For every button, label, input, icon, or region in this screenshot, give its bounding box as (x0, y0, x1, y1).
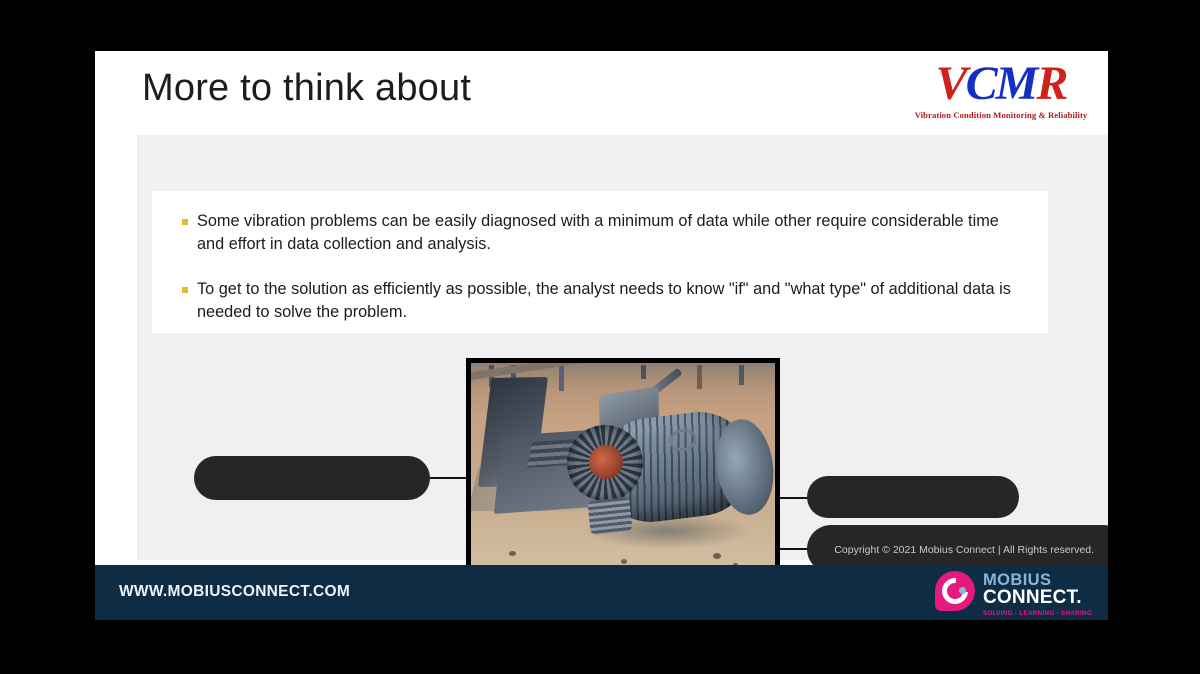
motor-photo-content (471, 363, 775, 591)
background-object (739, 365, 744, 385)
motor-foot (587, 497, 632, 535)
vcmr-letter-m: M (996, 57, 1037, 110)
bullet-marker-icon (182, 287, 188, 293)
slide-body-panel: Some vibration problems can be easily di… (137, 135, 1108, 560)
letterbox-stage: More to think about VCMR Vibration Condi… (0, 0, 1200, 674)
bullet-item: Some vibration problems can be easily di… (182, 210, 1022, 255)
callout-connector-right-2 (778, 548, 808, 550)
mobius-word-bottom: CONNECT. (983, 588, 1103, 608)
callout-left-redacted (194, 456, 430, 500)
mobius-tagline: SOLVING · LEARNING · SHARING (983, 610, 1103, 617)
bullet-item: To get to the solution as efficiently as… (182, 278, 1022, 323)
mobius-wordmark: MOBIUS CONNECT. SOLVING · LEARNING · SHA… (983, 572, 1103, 617)
vcmr-letter-r: R (1036, 57, 1066, 110)
page-title: More to think about (142, 67, 471, 110)
callout-right-1-redacted (807, 476, 1019, 518)
debris (509, 551, 516, 556)
motor-photo (466, 358, 780, 596)
presentation-slide: More to think about VCMR Vibration Condi… (95, 51, 1108, 620)
copyright-text: Copyright © 2021 Mobius Connect | All Ri… (834, 544, 1094, 556)
slide-header: More to think about VCMR Vibration Condi… (95, 51, 1108, 135)
dot-shape (959, 587, 966, 594)
vcmr-tagline: Vibration Condition Monitoring & Reliabi… (905, 110, 1097, 120)
bullet-marker-icon (182, 219, 188, 225)
mobius-connect-logo: MOBIUS CONNECT. SOLVING · LEARNING · SHA… (931, 565, 1106, 620)
mobius-word-top: MOBIUS (983, 572, 1103, 588)
mobius-bubble-icon (935, 571, 979, 615)
debris (713, 553, 721, 559)
vcmr-wordmark: VCMR (905, 59, 1097, 109)
vcmr-letter-v: V (936, 57, 966, 110)
slide-footer: WWW.MOBIUSCONNECT.COM MOBIUS CONNECT. SO… (95, 565, 1108, 620)
background-object (697, 365, 702, 389)
bullet-text: To get to the solution as efficiently as… (197, 278, 1022, 323)
bullet-text-card: Some vibration problems can be easily di… (152, 191, 1048, 333)
footer-website-url[interactable]: WWW.MOBIUSCONNECT.COM (119, 583, 350, 601)
debris (621, 559, 627, 564)
bullet-text: Some vibration problems can be easily di… (197, 210, 1022, 255)
vcmr-letter-c: C (966, 57, 996, 110)
background-object (559, 365, 564, 391)
callout-connector-right-1 (778, 497, 808, 499)
callout-connector-left (430, 477, 468, 479)
vcmr-logo: VCMR Vibration Condition Monitoring & Re… (905, 59, 1097, 131)
background-object (641, 365, 646, 379)
